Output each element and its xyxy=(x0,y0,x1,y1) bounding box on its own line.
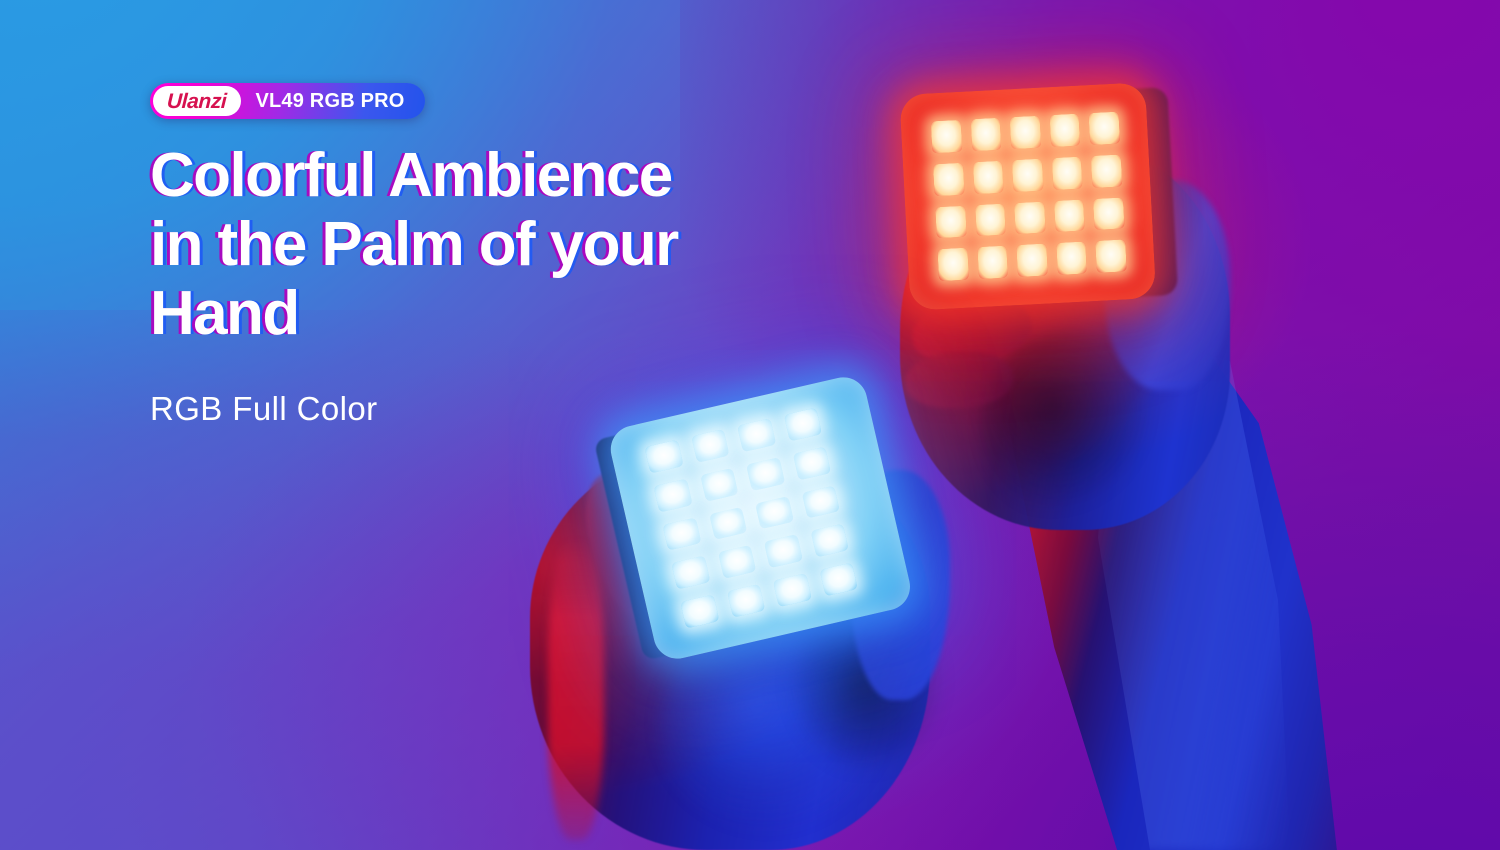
led-cell xyxy=(1049,114,1080,147)
led-cell xyxy=(1056,242,1087,275)
led-cell xyxy=(680,595,719,629)
led-cell xyxy=(1010,116,1041,149)
led-cell xyxy=(662,517,701,551)
led-cell xyxy=(700,468,739,502)
brand-name: Ulanzi xyxy=(166,91,227,112)
led-cell xyxy=(972,160,1003,193)
led-cell xyxy=(810,524,849,558)
led-cell xyxy=(975,203,1006,236)
led-cell xyxy=(653,478,692,512)
led-cell xyxy=(764,535,803,569)
subtitle: RGB Full Color xyxy=(150,389,377,429)
brand-logo-pill: Ulanzi xyxy=(153,86,241,116)
blue-led-grid xyxy=(644,408,857,629)
led-cell xyxy=(1014,201,1045,234)
led-cell xyxy=(937,248,968,281)
led-cell xyxy=(1054,199,1085,232)
led-cell xyxy=(709,507,748,541)
led-cell xyxy=(727,584,766,618)
left-hand-red-rimlight xyxy=(548,540,604,840)
led-cell xyxy=(746,457,785,491)
led-cell xyxy=(933,163,964,196)
headline-line-2: in the Palm of your xyxy=(150,211,910,280)
led-cell xyxy=(718,545,757,579)
led-cell xyxy=(1091,154,1122,187)
brand-badge: Ulanzi VL49 RGB PRO xyxy=(150,83,425,119)
led-cell xyxy=(931,120,962,153)
led-cell xyxy=(773,573,812,607)
led-cell xyxy=(977,246,1008,279)
led-cell xyxy=(783,408,822,442)
led-cell xyxy=(1017,244,1048,277)
led-cell xyxy=(691,429,730,463)
red-light-panel xyxy=(899,81,1172,319)
led-cell xyxy=(671,556,710,590)
headline-line-1: Colorful Ambience xyxy=(150,142,910,211)
led-cell xyxy=(819,563,858,597)
led-cell xyxy=(737,418,776,452)
led-cell xyxy=(1012,158,1043,191)
product-banner: Ulanzi VL49 RGB PRO Colorful Ambience in… xyxy=(0,0,1500,850)
led-cell xyxy=(644,440,683,474)
red-light-diffuser xyxy=(899,82,1156,311)
led-cell xyxy=(1093,197,1124,230)
led-cell xyxy=(1096,240,1127,273)
led-cell xyxy=(935,205,966,238)
led-cell xyxy=(1089,112,1120,145)
headline: Colorful Ambience in the Palm of your Ha… xyxy=(150,142,910,348)
led-cell xyxy=(801,485,840,519)
led-cell xyxy=(970,118,1001,151)
red-led-grid xyxy=(931,112,1127,282)
product-model: VL49 RGB PRO xyxy=(255,91,404,111)
led-cell xyxy=(755,496,794,530)
headline-line-3: Hand xyxy=(150,280,910,349)
led-cell xyxy=(1052,156,1083,189)
led-cell xyxy=(792,446,831,480)
